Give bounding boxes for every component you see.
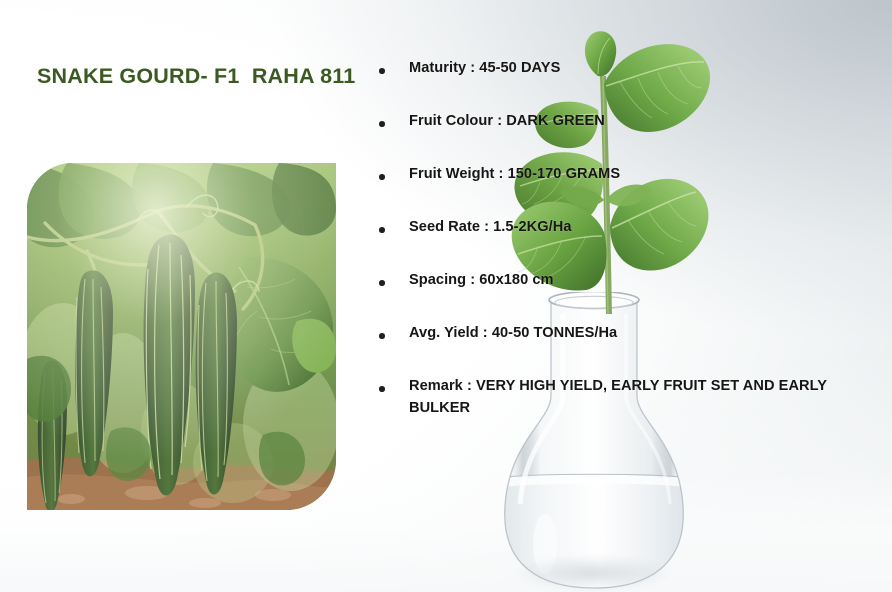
spec-fruit-weight: Fruit Weight : 150-170 GRAMS [409, 166, 620, 182]
field-photo-svg [27, 163, 336, 510]
list-item[interactable]: Spacing : 60x180 cm [377, 269, 877, 322]
snake-gourd-field-photo [27, 163, 336, 510]
bullet-dot-icon [379, 121, 385, 127]
spec-fruit-colour: Fruit Colour : DARK GREEN [409, 113, 605, 129]
spec-remark: Remark : VERY HIGH YIELD, EARLY FRUIT SE… [409, 378, 827, 416]
spec-avg-yield: Avg. Yield : 40-50 TONNES/Ha [409, 325, 617, 341]
bullet-dot-icon [379, 280, 385, 286]
spec-spacing: Spacing : 60x180 cm [409, 272, 554, 288]
bullet-dot-icon [379, 174, 385, 180]
list-item[interactable]: Maturity : 45-50 DAYS [377, 57, 877, 110]
spec-bullet-list: Maturity : 45-50 DAYS Fruit Colour : DAR… [377, 57, 877, 428]
bullet-dot-icon [379, 386, 385, 392]
page-title: SNAKE GOURD- F1 RAHA 811 [37, 64, 355, 89]
spec-seed-rate: Seed Rate : 1.5-2KG/Ha [409, 219, 572, 235]
list-item[interactable]: Fruit Weight : 150-170 GRAMS [377, 163, 877, 216]
bullet-dot-icon [379, 227, 385, 233]
list-item[interactable]: Fruit Colour : DARK GREEN [377, 110, 877, 163]
list-item[interactable]: Avg. Yield : 40-50 TONNES/Ha [377, 322, 877, 375]
bullet-dot-icon [379, 68, 385, 74]
slide-canvas: SNAKE GOURD- F1 RAHA 811 [0, 0, 892, 592]
field-haze [27, 163, 336, 510]
list-item[interactable]: Seed Rate : 1.5-2KG/Ha [377, 216, 877, 269]
spec-maturity: Maturity : 45-50 DAYS [409, 60, 560, 76]
flask-shadow [493, 550, 693, 592]
list-item[interactable]: Remark : VERY HIGH YIELD, EARLY FRUIT SE… [377, 375, 877, 428]
bullet-dot-icon [379, 333, 385, 339]
